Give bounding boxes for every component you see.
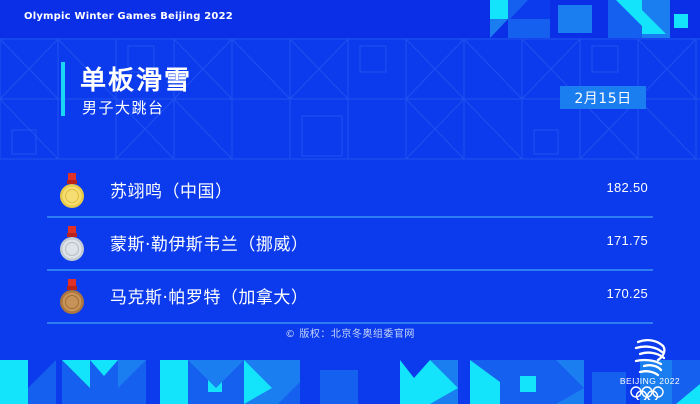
copyright-text: © 版权：北京冬奥组委官网 [0, 325, 700, 340]
top-bar-title: Olympic Winter Games Beijing 2022 [24, 11, 233, 22]
athlete-score: 171.75 [606, 233, 648, 248]
silver-medal-icon [57, 226, 87, 262]
topbar-decorative-pattern [430, 0, 700, 38]
top-bar: Olympic Winter Games Beijing 2022 [0, 0, 700, 38]
screenshot-root: Olympic Winter Games Beijing 2022 [0, 0, 700, 404]
row-divider [47, 322, 653, 324]
athlete-name: 苏翊鸣（中国） [110, 177, 233, 202]
date-badge: 2月15日 [560, 86, 646, 109]
bottom-decorative-pattern [0, 352, 700, 404]
result-row: 蒙斯·勒伊斯韦兰（挪威） 171.75 [0, 218, 700, 271]
gold-medal-icon [57, 173, 87, 209]
results-list: 苏翊鸣（中国） 182.50 蒙斯·勒伊斯韦兰（挪威） 171.75 [0, 165, 700, 324]
event-title: 单板滑雪 [80, 60, 192, 97]
athlete-score: 182.50 [606, 180, 648, 195]
athlete-name: 马克斯·帕罗特（加拿大） [110, 283, 308, 308]
title-accent-bar [61, 62, 65, 116]
result-row: 马克斯·帕罗特（加拿大） 170.25 [0, 271, 700, 324]
event-subtitle: 男子大跳台 [82, 97, 165, 118]
athlete-name: 蒙斯·勒伊斯韦兰（挪威） [110, 230, 308, 255]
result-row: 苏翊鸣（中国） 182.50 [0, 165, 700, 218]
logo-wordmark: BEIJING 2022 [620, 376, 680, 386]
bronze-medal-icon [57, 279, 87, 315]
athlete-score: 170.25 [606, 286, 648, 301]
olympic-rings-icon [631, 387, 663, 400]
beijing-2022-logo: BEIJING 2022 [614, 334, 686, 400]
